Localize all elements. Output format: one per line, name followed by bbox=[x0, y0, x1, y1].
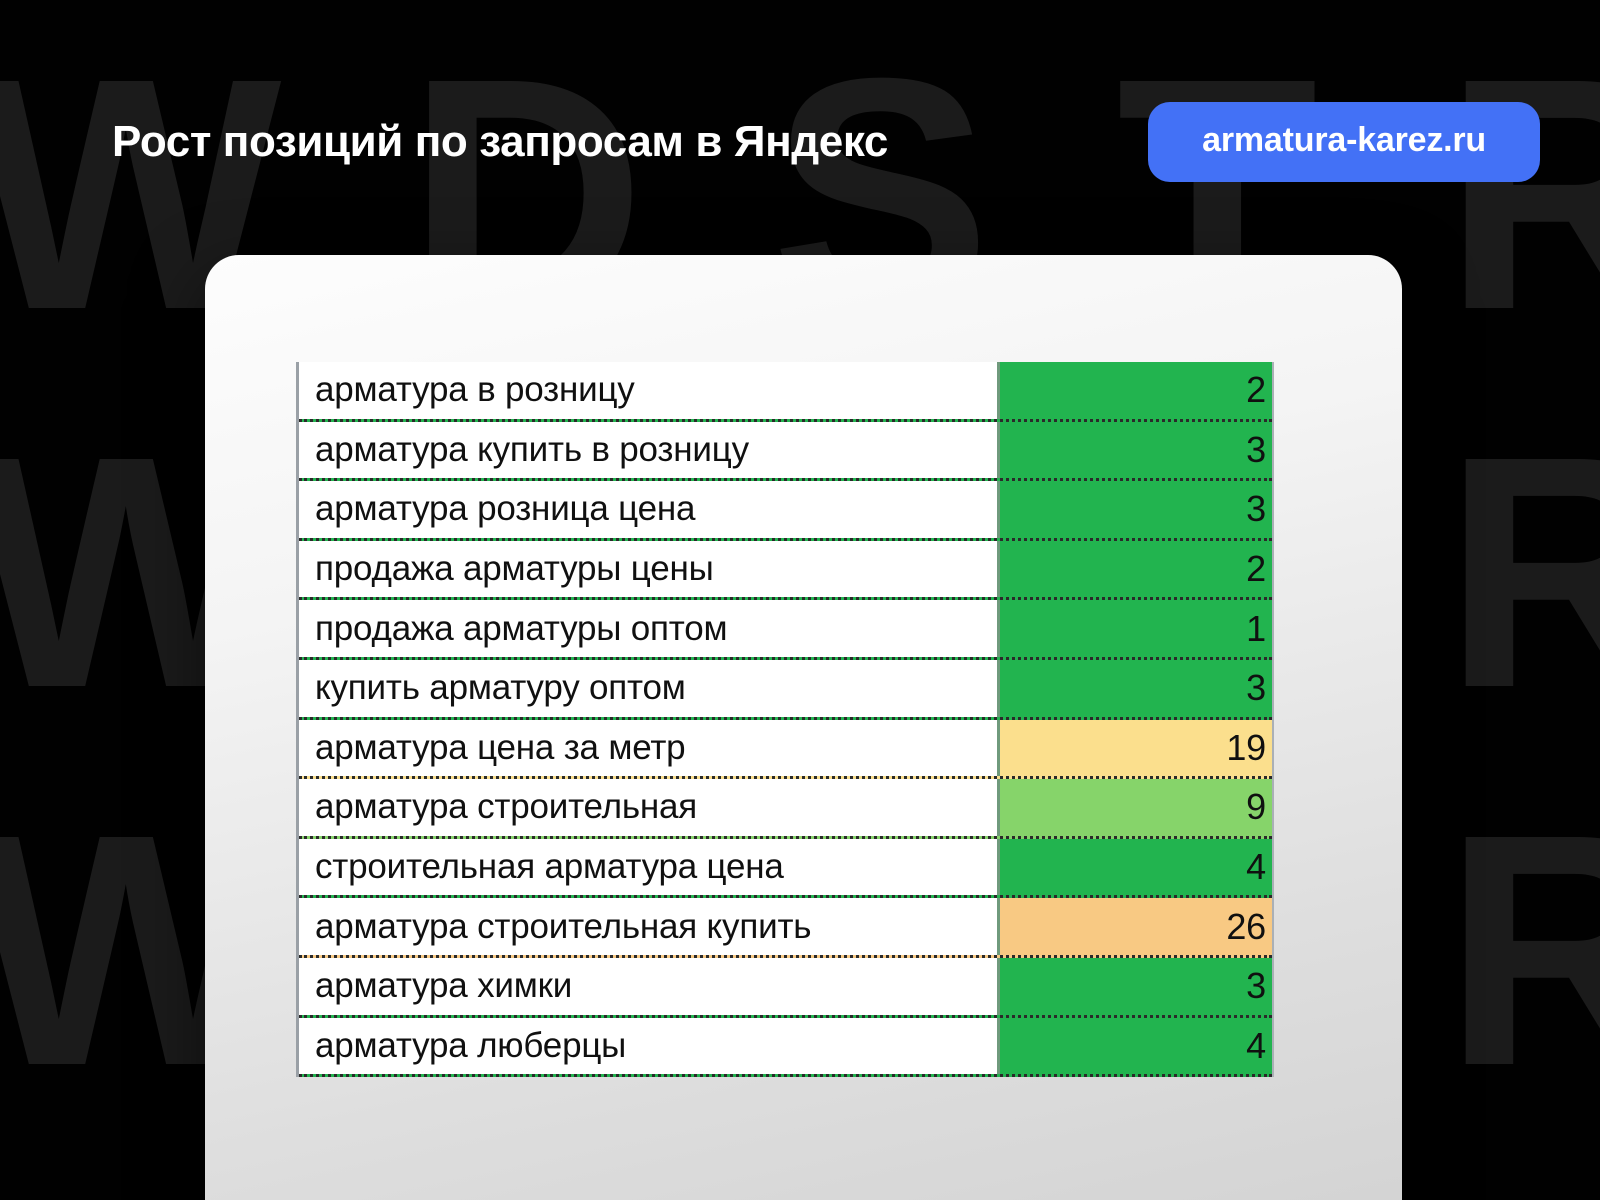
table-row: арматура химки3 bbox=[299, 958, 1272, 1018]
query-cell: строительная арматура цена bbox=[299, 839, 997, 896]
position-cell: 1 bbox=[997, 600, 1272, 657]
query-cell: арматура строительная bbox=[299, 779, 997, 836]
position-cell: 3 bbox=[997, 481, 1272, 538]
table-row: продажа арматуры оптом1 bbox=[299, 600, 1272, 660]
query-cell: арматура купить в розницу bbox=[299, 422, 997, 479]
table-row: арматура купить в розницу3 bbox=[299, 422, 1272, 482]
query-cell: арматура люберцы bbox=[299, 1018, 997, 1075]
screenshot-card: арматура в розницу2арматура купить в роз… bbox=[205, 255, 1402, 1200]
table-row: арматура цена за метр19 bbox=[299, 720, 1272, 780]
query-cell: купить арматуру оптом bbox=[299, 660, 997, 717]
site-domain-badge[interactable]: armatura-karez.ru bbox=[1148, 102, 1540, 182]
watermark-letter: R bbox=[1444, 808, 1600, 1092]
position-cell: 3 bbox=[997, 958, 1272, 1015]
page-title: Рост позиций по запросам в Яндекс bbox=[112, 117, 888, 167]
table-row: арматура строительная купить26 bbox=[299, 898, 1272, 958]
query-cell: продажа арматуры цены bbox=[299, 541, 997, 598]
table-row: арматура люберцы4 bbox=[299, 1018, 1272, 1078]
position-cell: 4 bbox=[997, 839, 1272, 896]
table-row: арматура строительная9 bbox=[299, 779, 1272, 839]
table-row: продажа арматуры цены2 bbox=[299, 541, 1272, 601]
screenshot-root: W D S T R W B S T R W B S T R Рост позиц… bbox=[0, 0, 1600, 1200]
header-bar: Рост позиций по запросам в Яндекс armatu… bbox=[0, 96, 1600, 188]
position-cell: 3 bbox=[997, 660, 1272, 717]
query-cell: арматура в розницу bbox=[299, 362, 997, 419]
position-cell: 9 bbox=[997, 779, 1272, 836]
table-row: купить арматуру оптом3 bbox=[299, 660, 1272, 720]
position-cell: 2 bbox=[997, 541, 1272, 598]
position-cell: 2 bbox=[997, 362, 1272, 419]
query-cell: арматура цена за метр bbox=[299, 720, 997, 777]
table-row: арматура в розницу2 bbox=[299, 362, 1272, 422]
watermark-letter: R bbox=[1444, 430, 1600, 714]
query-cell: арматура розница цена bbox=[299, 481, 997, 538]
position-cell: 4 bbox=[997, 1018, 1272, 1075]
table-row: арматура розница цена3 bbox=[299, 481, 1272, 541]
table-row: строительная арматура цена4 bbox=[299, 839, 1272, 899]
positions-table: арматура в розницу2арматура купить в роз… bbox=[296, 362, 1274, 1077]
position-cell: 19 bbox=[997, 720, 1272, 777]
query-cell: арматура химки bbox=[299, 958, 997, 1015]
position-cell: 3 bbox=[997, 422, 1272, 479]
watermark-letter: R bbox=[1444, 52, 1600, 336]
query-cell: продажа арматуры оптом bbox=[299, 600, 997, 657]
position-cell: 26 bbox=[997, 898, 1272, 955]
query-cell: арматура строительная купить bbox=[299, 898, 997, 955]
